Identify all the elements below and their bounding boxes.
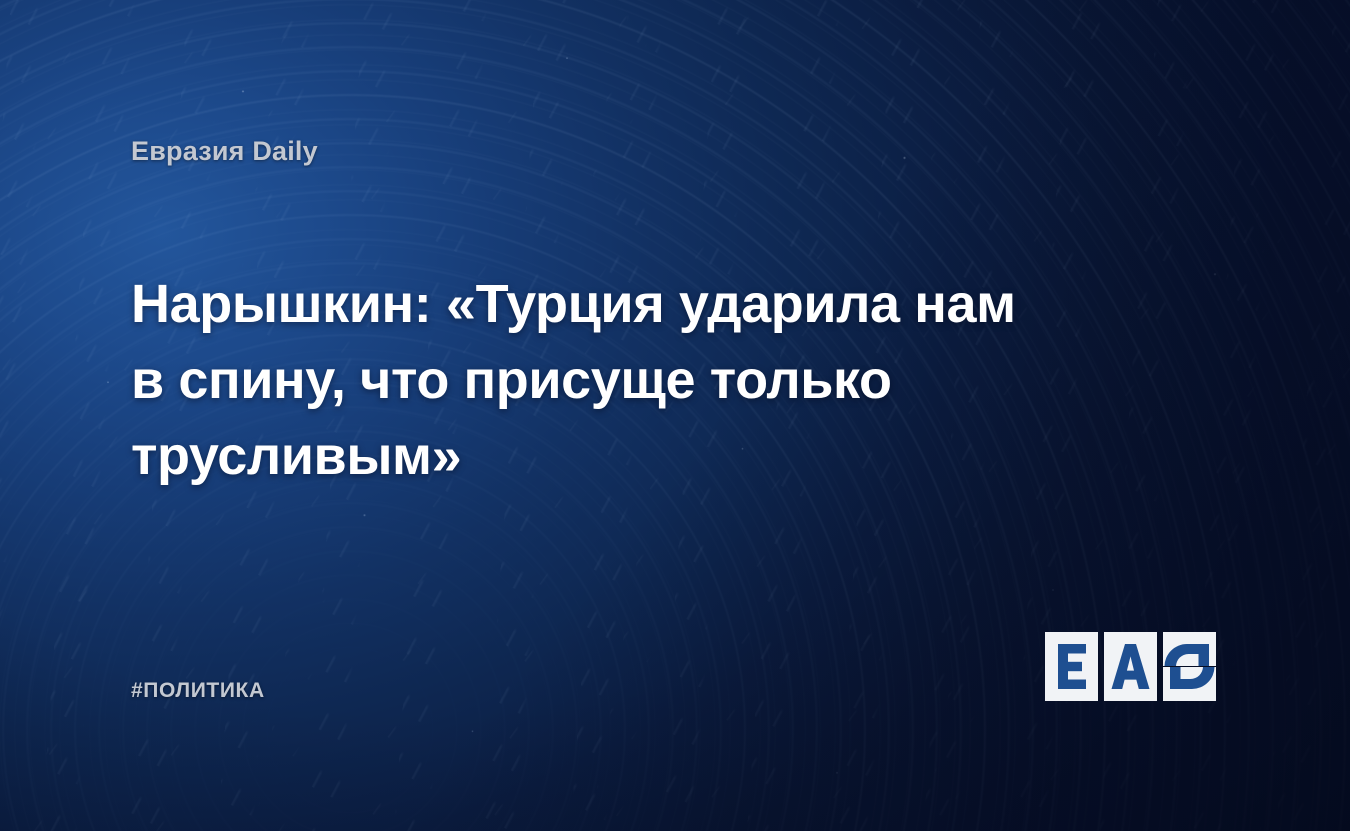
headline: Нарышкин: «Турция ударила нам в спину, ч… xyxy=(131,266,1061,494)
logo-tile-a xyxy=(1104,632,1157,701)
headline-line-3: трусливым» xyxy=(131,418,1061,494)
card-content: Евразия Daily Нарышкин: «Турция ударила … xyxy=(0,0,1350,831)
headline-line-1: Нарышкин: «Турция ударила нам xyxy=(131,266,1061,342)
brand-wordmark: Евразия Daily xyxy=(131,136,318,167)
logo-tile-d-split xyxy=(1163,632,1216,701)
headline-line-2: в спину, что присуще только xyxy=(131,342,1061,418)
news-card: Евразия Daily Нарышкин: «Турция ударила … xyxy=(0,0,1350,831)
logo-tile-d-upper xyxy=(1163,632,1216,666)
category-hashtag: #ПОЛИТИКА xyxy=(131,679,265,703)
logo-tile-d-lower xyxy=(1163,667,1216,701)
eadaily-logo xyxy=(1045,632,1217,701)
logo-tile-e xyxy=(1045,632,1098,701)
